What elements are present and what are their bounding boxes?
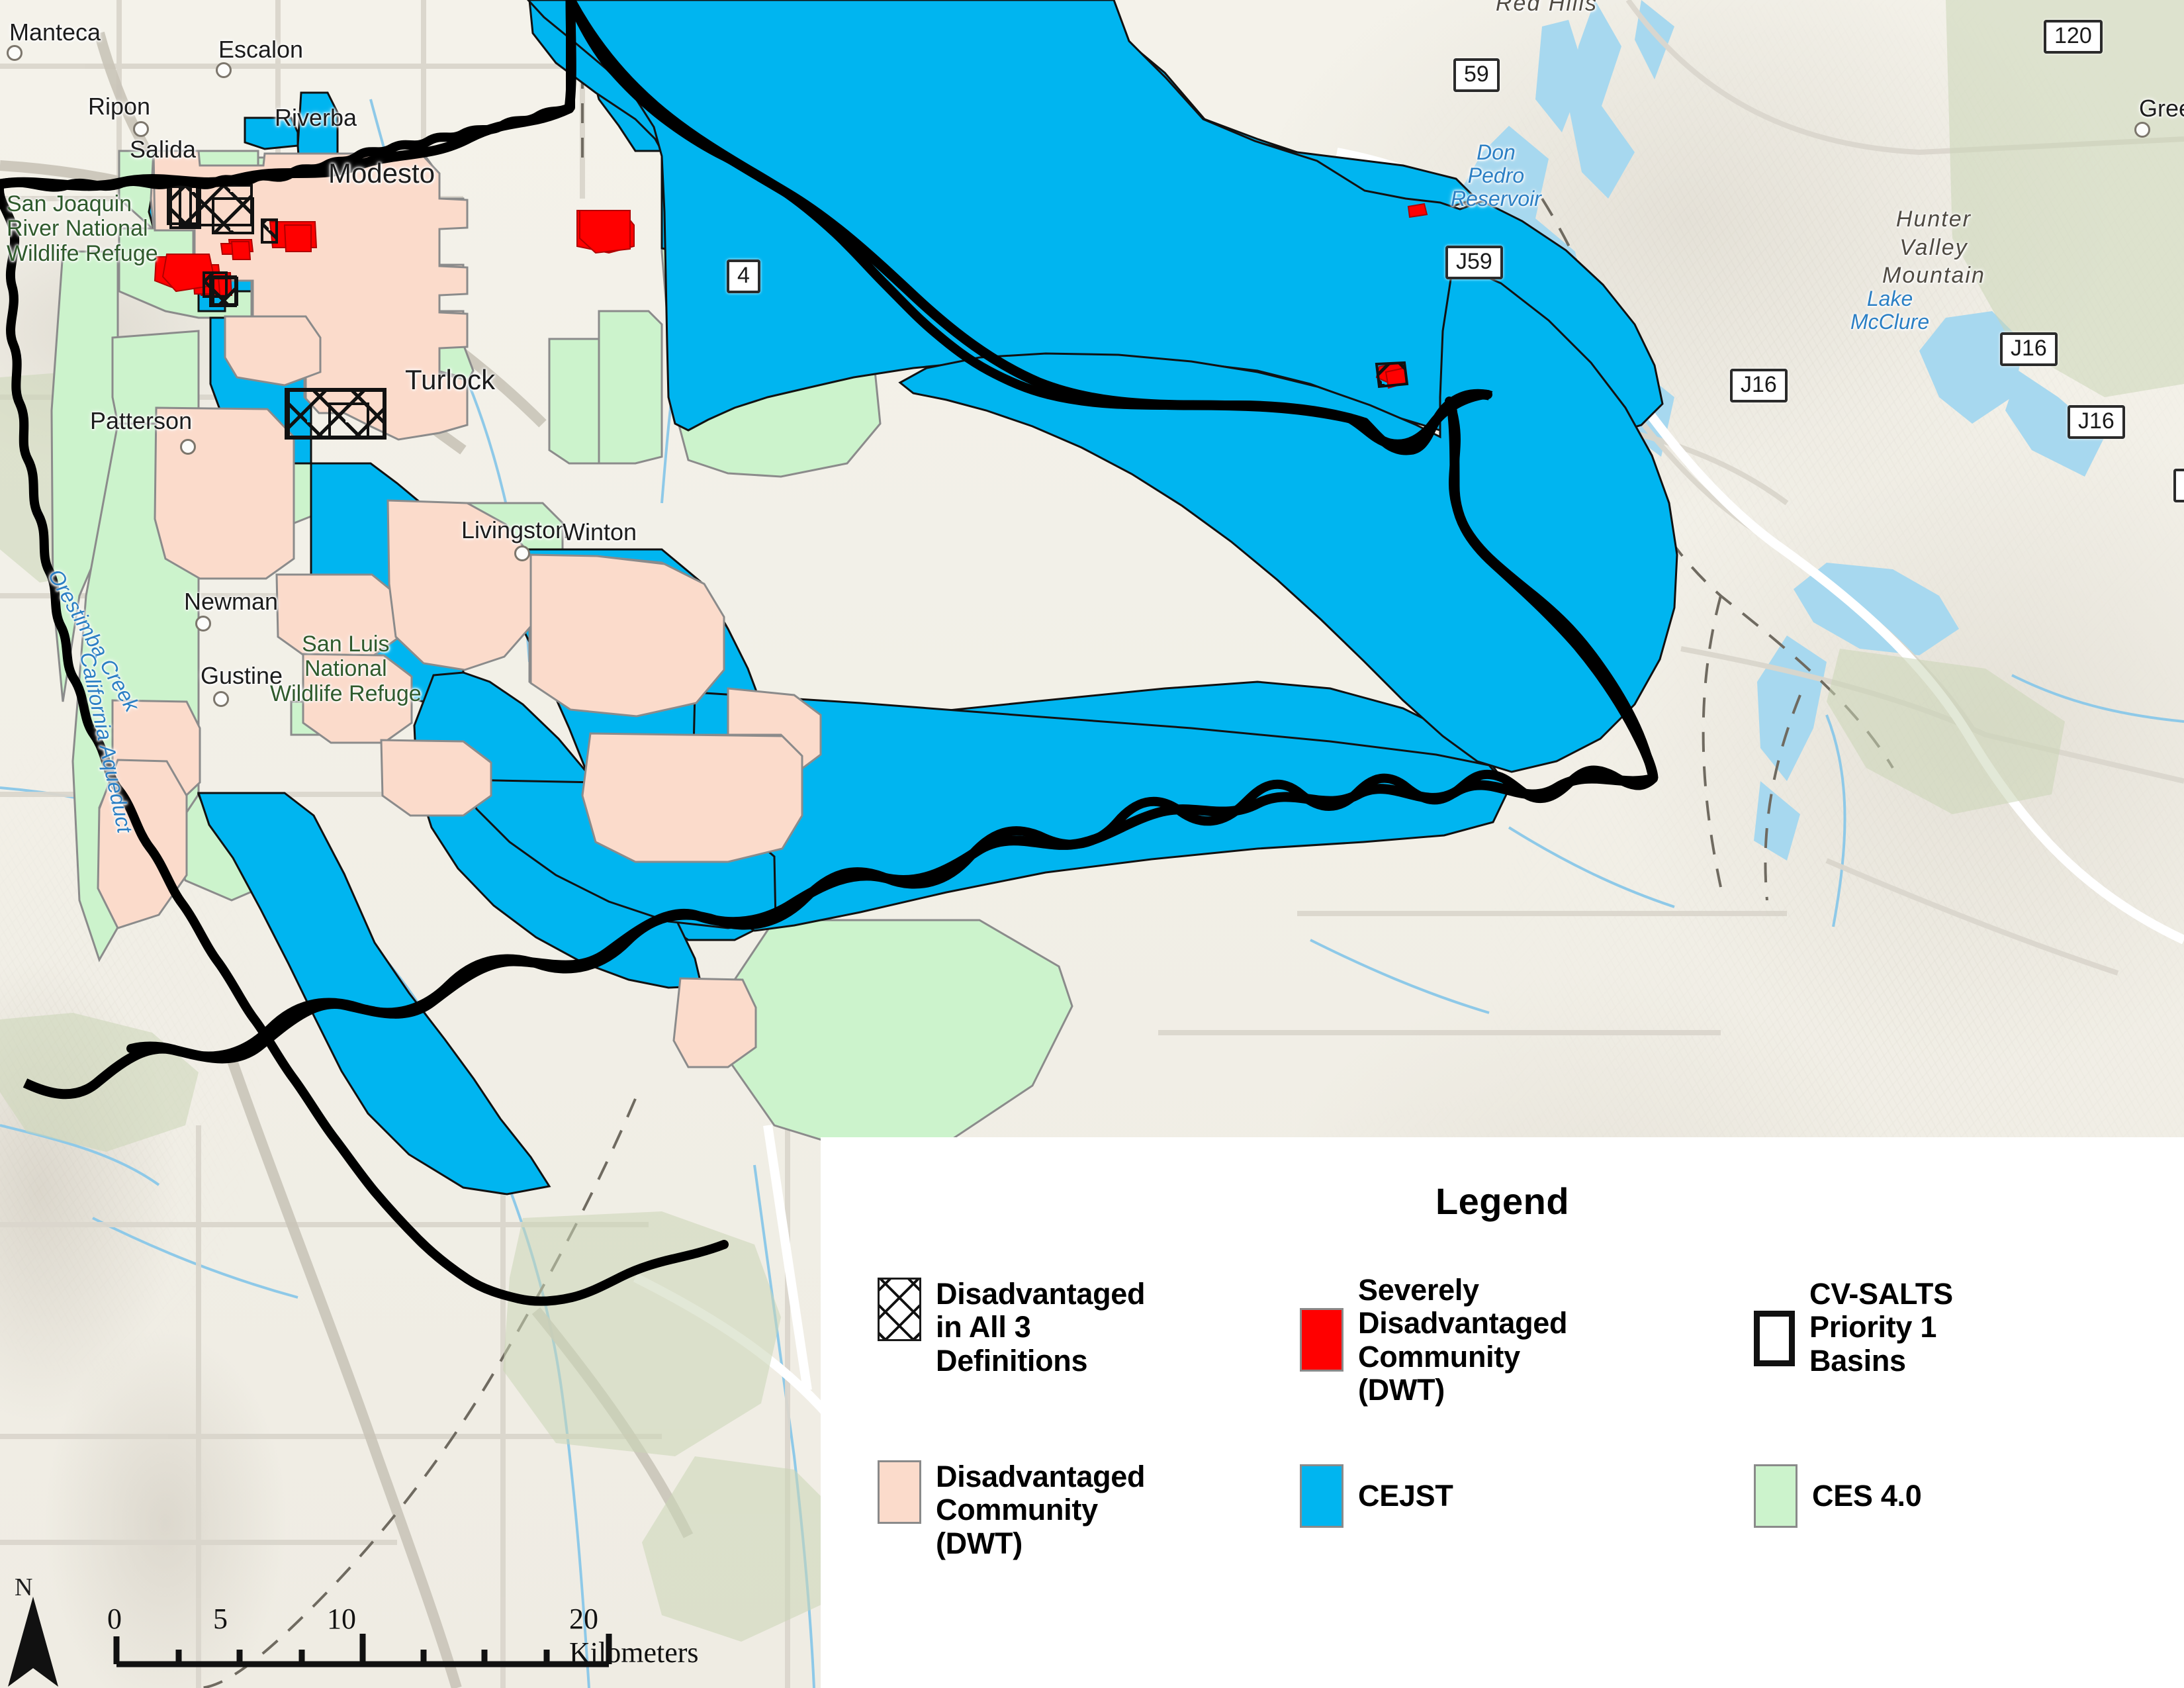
city-label-riverbank: Riverba xyxy=(275,104,357,132)
terrain-label-red-hills: Red Hills xyxy=(1496,0,1598,18)
legend-panel: Legend Disadvantaged in All 3 Definition… xyxy=(821,1137,2184,1688)
highway-shield-59[interactable]: 59 xyxy=(1453,58,1500,92)
scale-tick-0: 0 xyxy=(107,1602,122,1636)
city-label-greeley-hill: Greel xyxy=(2139,95,2184,122)
terrain-label-hunter-valley-mountain: Hunter Valley Mountain xyxy=(1882,205,1985,290)
highway-shield-j59[interactable]: J59 xyxy=(1445,246,1503,279)
city-dot-livingston xyxy=(514,545,530,561)
scale-tick-5: 5 xyxy=(213,1602,228,1636)
map-decorations: N 0 5 10 20 Kilometers xyxy=(0,1575,728,1688)
legend-item-cejst[interactable]: CEJST xyxy=(1300,1464,1670,1528)
legend-item-all3[interactable]: Disadvantaged in All 3 Definitions xyxy=(878,1278,1261,1378)
city-label-escalon: Escalon xyxy=(218,36,303,64)
legend-swatch-cejst-fill xyxy=(1300,1464,1343,1528)
city-dot-ripon xyxy=(133,121,149,137)
park-label-san-luis-nwr: San Luis National Wildlife Refuge xyxy=(270,632,422,706)
city-label-winton: Winton xyxy=(563,518,637,546)
city-label-ripon: Ripon xyxy=(88,93,150,120)
city-dot-greeley-hill xyxy=(2134,122,2150,138)
legend-label-all3: Disadvantaged in All 3 Definitions xyxy=(936,1278,1145,1378)
water-label-don-pedro-reservoir: Don Pedro Reservoir xyxy=(1451,141,1541,211)
legend-label-cejst: CEJST xyxy=(1358,1479,1453,1513)
legend-label-sdwt: Severely Disadvantaged Community (DWT) xyxy=(1358,1274,1567,1407)
city-dot-manteca xyxy=(7,45,23,61)
north-arrow-icon xyxy=(4,1594,83,1688)
water-label-lake-mcclure: Lake McClure xyxy=(1850,287,1929,334)
legend-title: Legend xyxy=(821,1180,2184,1223)
map-canvas: Manteca Escalon Ripon Riverba Salida Mod… xyxy=(0,0,2184,1688)
legend-label-dwt: Disadvantaged Community (DWT) xyxy=(936,1460,1145,1560)
highway-shield-j16-b[interactable]: J16 xyxy=(1730,369,1788,402)
legend-label-cvsalts: CV-SALTS Priority 1 Basins xyxy=(1809,1278,1953,1378)
city-dot-patterson xyxy=(180,439,196,455)
legend-item-sdwt[interactable]: Severely Disadvantaged Community (DWT) xyxy=(1300,1274,1670,1407)
city-dot-escalon xyxy=(216,62,232,78)
city-label-turlock: Turlock xyxy=(405,364,495,396)
legend-item-dwt[interactable]: Disadvantaged Community (DWT) xyxy=(878,1460,1261,1560)
city-label-newman: Newman xyxy=(184,588,278,616)
legend-swatch-cvsalts-outline xyxy=(1754,1311,1795,1366)
legend-swatch-sdwt-fill xyxy=(1300,1308,1343,1372)
scale-tick-20-kilometers: 20 Kilometers xyxy=(569,1602,728,1669)
city-label-modesto: Modesto xyxy=(328,158,435,189)
highway-shield-j16-a[interactable]: J16 xyxy=(2000,332,2058,366)
highway-shield-j16-c[interactable]: J16 xyxy=(2068,405,2125,439)
legend-item-cvsalts[interactable]: CV-SALTS Priority 1 Basins xyxy=(1754,1278,2098,1378)
highway-shield-1[interactable]: 1 xyxy=(2173,469,2184,502)
highway-shield-120[interactable]: 120 xyxy=(2044,20,2103,54)
city-dot-newman xyxy=(195,616,211,632)
legend-item-ces40[interactable]: CES 4.0 xyxy=(1754,1464,2098,1528)
scale-tick-10: 10 xyxy=(327,1602,356,1636)
legend-swatch-dwt-fill xyxy=(878,1460,921,1524)
city-label-manteca: Manteca xyxy=(9,19,101,46)
highway-shield-4[interactable]: 4 xyxy=(727,259,760,293)
city-label-salida: Salida xyxy=(130,136,196,164)
city-label-patterson: Patterson xyxy=(90,407,192,435)
city-label-livingston: Livingston xyxy=(461,516,569,544)
city-dot-gustine xyxy=(213,691,229,707)
legend-swatch-ces40-fill xyxy=(1754,1464,1797,1528)
legend-label-ces40: CES 4.0 xyxy=(1812,1479,1922,1513)
park-label-san-joaquin-nwr: San Joaquin River National Wildlife Refu… xyxy=(7,192,158,266)
legend-swatch-all3-hatch xyxy=(878,1278,921,1341)
